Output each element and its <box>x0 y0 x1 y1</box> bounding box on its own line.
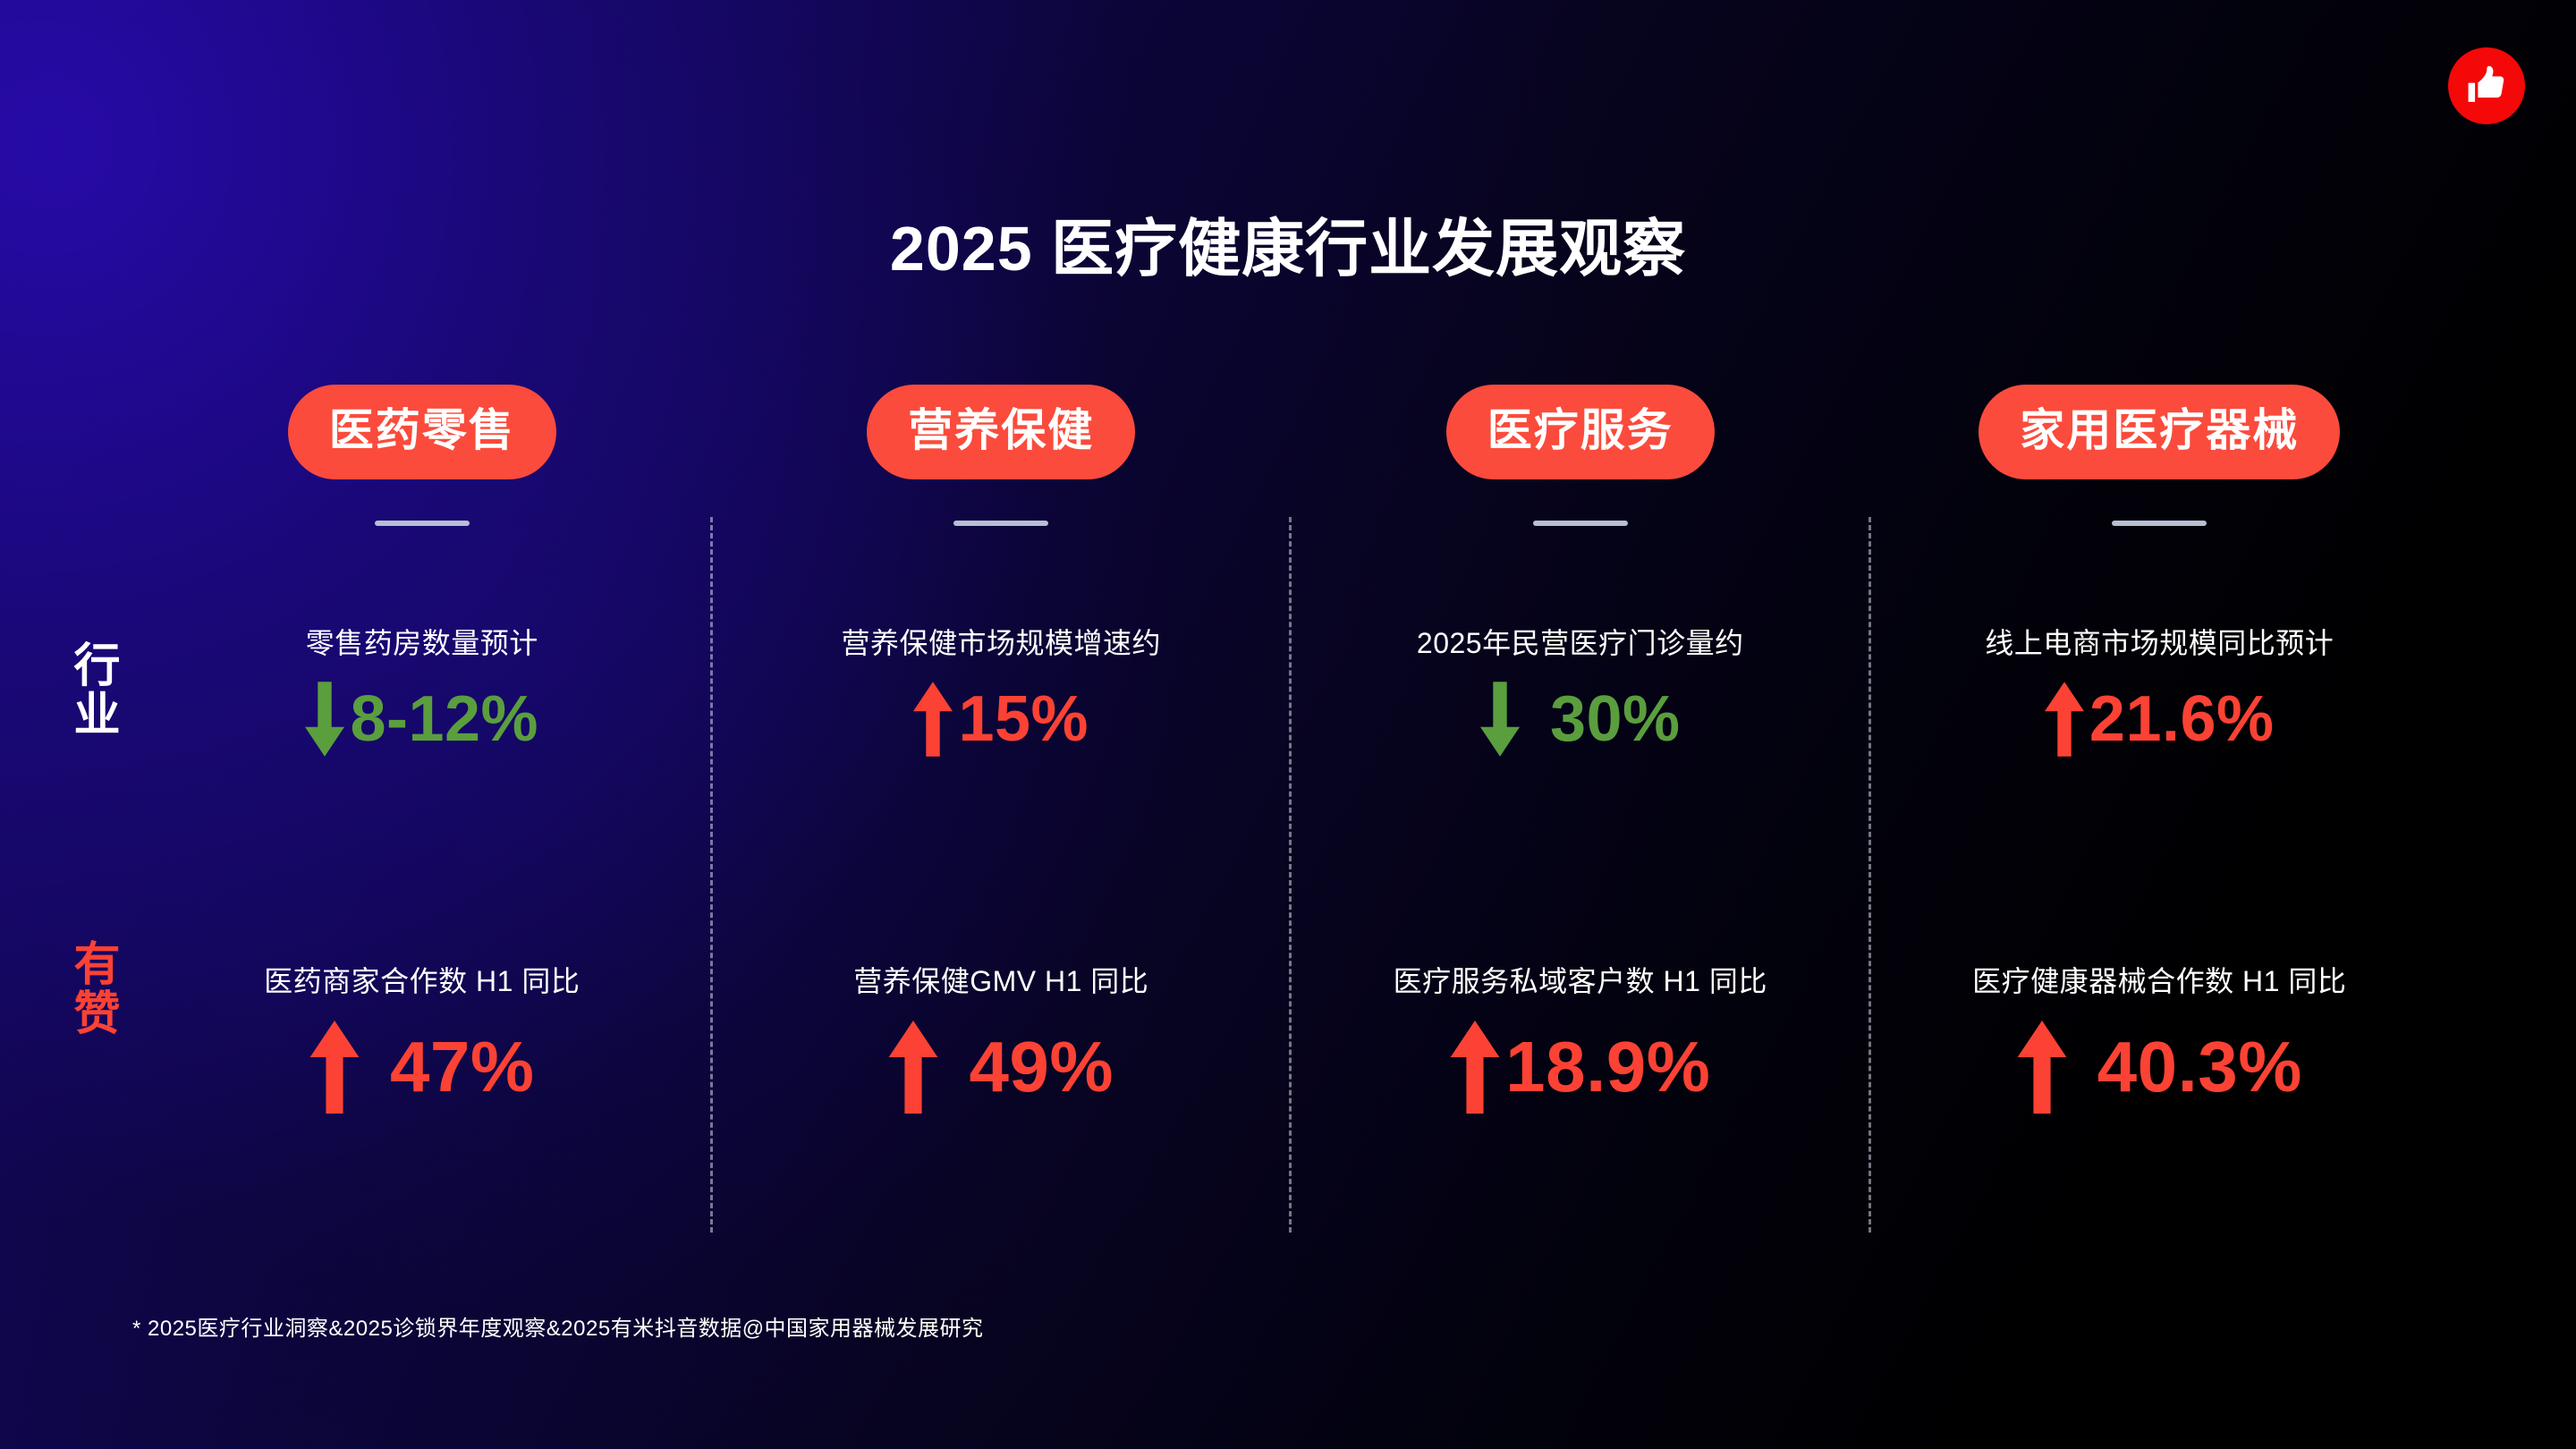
metric-value: 30% <box>1550 687 1681 751</box>
row-label-youzan: 有 赞 <box>66 941 129 1039</box>
category-pill-4[interactable]: 家用医疗器械 <box>1979 385 2340 479</box>
metric-caption: 营养保健市场规模增速约 <box>728 626 1275 660</box>
metric-value-row: 49% <box>728 1021 1275 1114</box>
metric-caption: 线上电商市场规模同比预计 <box>1886 626 2434 660</box>
metric-value: 21.6% <box>2089 687 2275 751</box>
arrow-up-icon <box>2045 682 2084 757</box>
metric-value-row: 8-12% <box>148 682 696 757</box>
pill-underline-3 <box>1533 521 1628 526</box>
metric-value: 15% <box>958 687 1089 751</box>
category-pill-wrap-2: 营养保健 <box>728 385 1275 479</box>
category-column-1: 医药零售 零售药房数量预计 8-12% 医药商家合作数 H1 同比 <box>132 385 712 1243</box>
thumbs-up-badge[interactable] <box>2448 47 2525 124</box>
arrow-up-icon <box>888 1021 938 1114</box>
metric-youzan-1: 医药商家合作数 H1 同比 47% <box>148 964 696 1113</box>
row-label-industry: 行 业 <box>66 642 129 741</box>
metric-youzan-3: 医疗服务私域客户数 H1 同比 18.9% <box>1307 964 1854 1113</box>
metric-value: 40.3% <box>2097 1031 2302 1103</box>
metric-value-row: 18.9% <box>1307 1021 1854 1114</box>
category-pill-3[interactable]: 医疗服务 <box>1446 385 1715 479</box>
metric-industry-1: 零售药房数量预计 8-12% <box>148 626 696 757</box>
category-column-3: 医疗服务 2025年民营医疗门诊量约 30% 医疗服务私域客户数 H1 同比 <box>1291 385 1870 1243</box>
metric-caption: 2025年民营医疗门诊量约 <box>1307 626 1854 660</box>
metric-industry-4: 线上电商市场规模同比预计 21.6% <box>1886 626 2434 757</box>
metric-industry-2: 营养保健市场规模增速约 15% <box>728 626 1275 757</box>
category-pill-wrap-1: 医药零售 <box>148 385 696 479</box>
metric-caption: 医疗服务私域客户数 H1 同比 <box>1307 964 1854 998</box>
category-column-4: 家用医疗器械 线上电商市场规模同比预计 21.6% 医疗健康器械合作数 H1 同… <box>1870 385 2450 1243</box>
metric-caption: 医药商家合作数 H1 同比 <box>148 964 696 998</box>
metric-value: 8-12% <box>350 687 538 751</box>
metric-value-row: 21.6% <box>1886 682 2434 757</box>
category-column-2: 营养保健 营养保健市场规模增速约 15% 营养保健GMV H1 同比 <box>712 385 1292 1243</box>
category-pill-2[interactable]: 营养保健 <box>867 385 1135 479</box>
source-footnote: * 2025医疗行业洞察&2025诊锁界年度观察&2025有米抖音数据@中国家用… <box>132 1310 984 1342</box>
pill-underline-4 <box>2112 521 2207 526</box>
metric-value: 49% <box>969 1031 1114 1103</box>
metric-caption: 零售药房数量预计 <box>148 626 696 660</box>
category-pill-wrap-3: 医疗服务 <box>1307 385 1854 479</box>
arrow-down-icon <box>305 682 344 757</box>
metric-youzan-4: 医疗健康器械合作数 H1 同比 40.3% <box>1886 964 2434 1113</box>
metric-value: 47% <box>390 1031 535 1103</box>
metrics-grid: 医药零售 零售药房数量预计 8-12% 医药商家合作数 H1 同比 <box>132 385 2449 1243</box>
metric-industry-3: 2025年民营医疗门诊量约 30% <box>1307 626 1854 757</box>
metric-caption: 营养保健GMV H1 同比 <box>728 964 1275 998</box>
thumbs-up-icon <box>2464 64 2509 108</box>
metric-value-row: 15% <box>728 682 1275 757</box>
arrow-up-icon <box>913 682 953 757</box>
pill-underline-1 <box>375 521 470 526</box>
row-label-industry-char-2: 业 <box>66 691 129 741</box>
page-title: 2025 医疗健康行业发展观察 <box>0 199 2576 289</box>
arrow-down-icon <box>1480 682 1520 757</box>
category-pill-1[interactable]: 医药零售 <box>288 385 556 479</box>
metric-value-row: 30% <box>1307 682 1854 757</box>
metric-value: 18.9% <box>1505 1031 1710 1103</box>
metric-value-row: 47% <box>148 1021 696 1114</box>
metric-value-row: 40.3% <box>1886 1021 2434 1114</box>
row-label-youzan-char-2: 赞 <box>66 990 129 1039</box>
pill-underline-2 <box>953 521 1048 526</box>
arrow-up-icon <box>309 1021 360 1114</box>
row-label-youzan-char-1: 有 <box>66 941 129 990</box>
row-label-industry-char-1: 行 <box>66 642 129 691</box>
category-pill-wrap-4: 家用医疗器械 <box>1886 385 2434 479</box>
arrow-up-icon <box>2017 1021 2067 1114</box>
metric-caption: 医疗健康器械合作数 H1 同比 <box>1886 964 2434 998</box>
arrow-up-icon <box>1450 1021 1500 1114</box>
infographic-canvas: 2025 医疗健康行业发展观察 行 业 有 赞 医药零售 零售药房数量预计 8-… <box>0 0 2576 1449</box>
metric-youzan-2: 营养保健GMV H1 同比 49% <box>728 964 1275 1113</box>
